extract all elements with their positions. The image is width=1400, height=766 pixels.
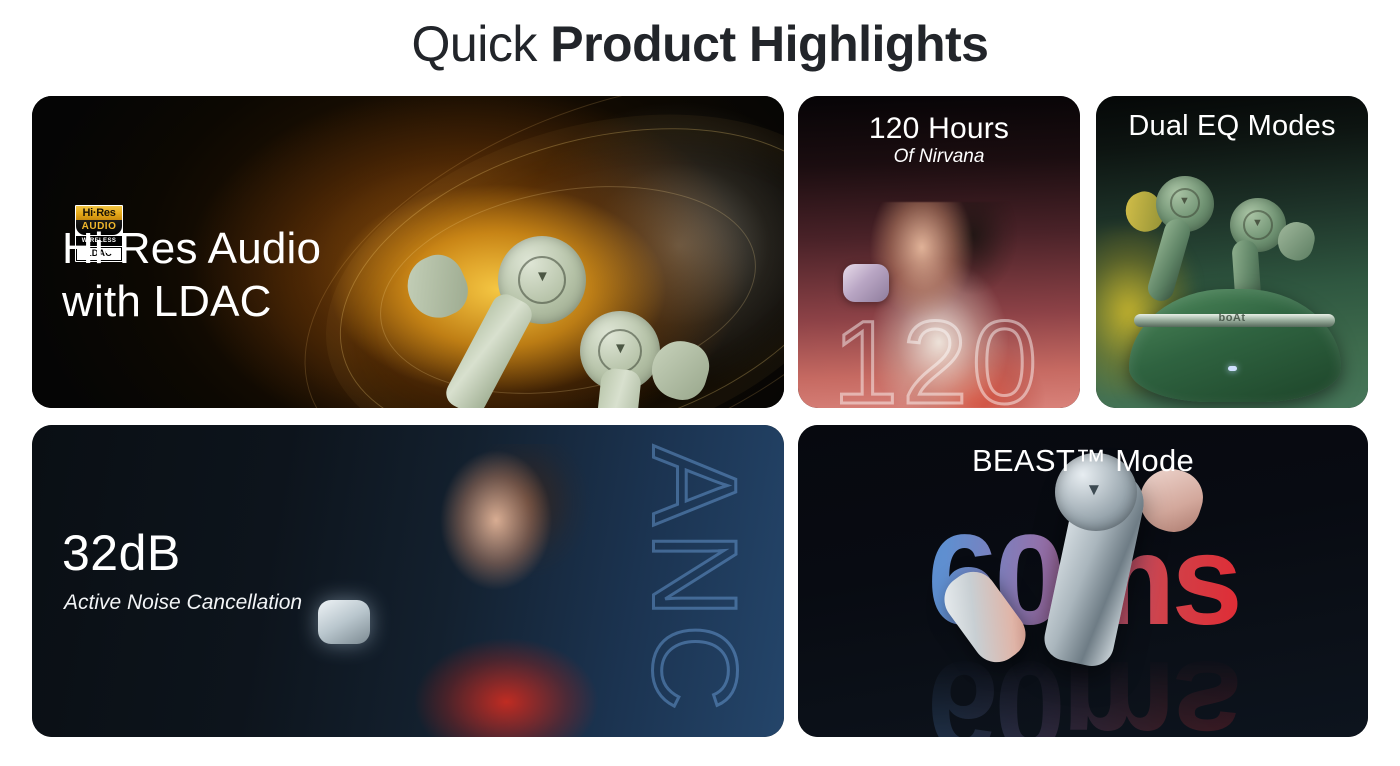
card-dual-eq-modes[interactable]: ▼ ▼ boAt Dual EQ Modes <box>1096 96 1368 408</box>
anc-watermark: ANC <box>634 445 754 716</box>
boat-anchor-icon: ▼ <box>1179 196 1190 207</box>
eq-case-brand-label: boAt <box>1096 312 1368 324</box>
eq-title: Dual EQ Modes <box>1096 110 1368 143</box>
page-title-bold: Product Highlights <box>550 16 988 72</box>
beast-title: BEAST™ Mode <box>798 443 1368 479</box>
boat-anchor-icon: ▼ <box>535 269 550 284</box>
battery-watermark: 120 <box>798 304 1078 408</box>
badge-hires-label: Hi·Res <box>76 206 122 220</box>
boat-anchor-icon: ▼ <box>1086 481 1103 498</box>
card-anc-media: ANC <box>32 425 784 737</box>
card-battery-life[interactable]: 120 120 Hours Of Nirvana <box>798 96 1080 408</box>
eq-case-led-indicator <box>1228 366 1237 371</box>
earbud-right-image: ▼ <box>580 311 780 408</box>
product-highlights-page: Quick Product Highlights ▼ ▼ <box>0 0 1400 766</box>
battery-subtitle: Of Nirvana <box>798 146 1080 168</box>
hi-res-headline: Hi-Res Audio with LDAC <box>62 222 321 328</box>
battery-title: 120 Hours <box>798 112 1080 146</box>
boat-anchor-icon: ▼ <box>613 341 628 356</box>
card-beast-mode[interactable]: 60ms 60ms ▼ BEAST™ Mode <box>798 425 1368 737</box>
anc-subtitle: Active Noise Cancellation <box>64 591 302 615</box>
anc-value: 32dB <box>62 528 181 578</box>
page-title-light: Quick <box>412 16 537 72</box>
model-photo <box>363 444 619 737</box>
page-title: Quick Product Highlights <box>0 12 1400 76</box>
card-active-noise-cancellation[interactable]: ANC <box>32 425 784 737</box>
anc-charging-case-image <box>318 600 370 644</box>
boat-anchor-icon: ▼ <box>1252 218 1263 229</box>
